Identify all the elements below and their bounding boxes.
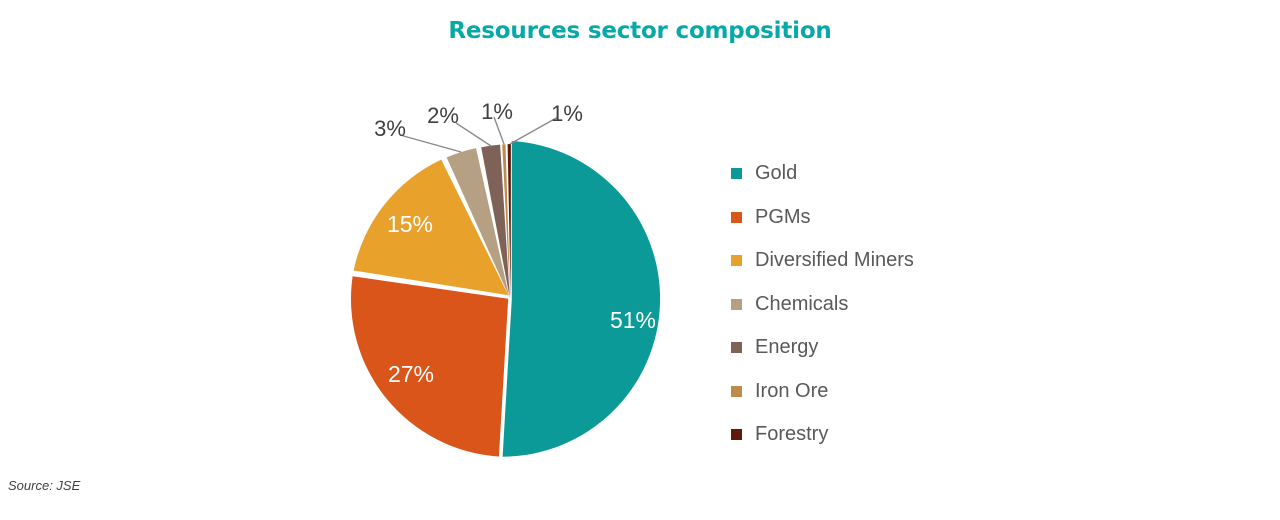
legend-item-forestry[interactable]: Forestry <box>731 413 1031 457</box>
pie-slice-gold[interactable] <box>503 141 660 457</box>
legend-label-chemicals: Chemicals <box>755 293 848 316</box>
slice-label-iron-ore: 1% <box>481 99 513 124</box>
slice-label-diversified-miners: 15% <box>387 211 433 237</box>
legend-swatch-gold <box>731 168 742 179</box>
leader-line-energy <box>456 123 491 146</box>
source-note: Source: JSE <box>8 478 80 493</box>
pie-slices <box>351 141 660 457</box>
pie-plot-area: 51% 27% 15% 3% 2% 1% 1% <box>330 90 710 480</box>
chart-legend: Gold PGMs Diversified Miners Chemicals E… <box>731 152 1031 457</box>
page-title: Resources sector composition <box>0 18 1280 44</box>
legend-item-energy[interactable]: Energy <box>731 326 1031 370</box>
legend-item-pgms[interactable]: PGMs <box>731 196 1031 240</box>
leader-line-chemicals <box>400 135 461 152</box>
legend-swatch-diversified-miners <box>731 255 742 266</box>
legend-swatch-pgms <box>731 212 742 223</box>
pie-svg: 51% 27% 15% 3% 2% 1% 1% <box>330 90 710 480</box>
slice-label-chemicals: 3% <box>374 116 406 141</box>
legend-swatch-chemicals <box>731 299 742 310</box>
legend-swatch-forestry <box>731 429 742 440</box>
legend-label-iron-ore: Iron Ore <box>755 380 828 403</box>
legend-label-gold: Gold <box>755 162 797 185</box>
slice-label-gold: 51% <box>610 307 656 333</box>
pie-chart-figure: Resources sector composition 51% <box>0 0 1280 520</box>
legend-label-forestry: Forestry <box>755 423 828 446</box>
legend-item-diversified-miners[interactable]: Diversified Miners <box>731 239 1031 283</box>
legend-item-iron-ore[interactable]: Iron Ore <box>731 370 1031 414</box>
slice-label-pgms: 27% <box>388 361 434 387</box>
legend-item-chemicals[interactable]: Chemicals <box>731 283 1031 327</box>
slice-label-forestry: 1% <box>551 101 583 126</box>
slice-label-energy: 2% <box>427 103 459 128</box>
legend-swatch-energy <box>731 342 742 353</box>
legend-label-pgms: PGMs <box>755 206 811 229</box>
legend-label-diversified-miners: Diversified Miners <box>755 249 914 272</box>
legend-label-energy: Energy <box>755 336 818 359</box>
legend-swatch-iron-ore <box>731 386 742 397</box>
legend-item-gold[interactable]: Gold <box>731 152 1031 196</box>
